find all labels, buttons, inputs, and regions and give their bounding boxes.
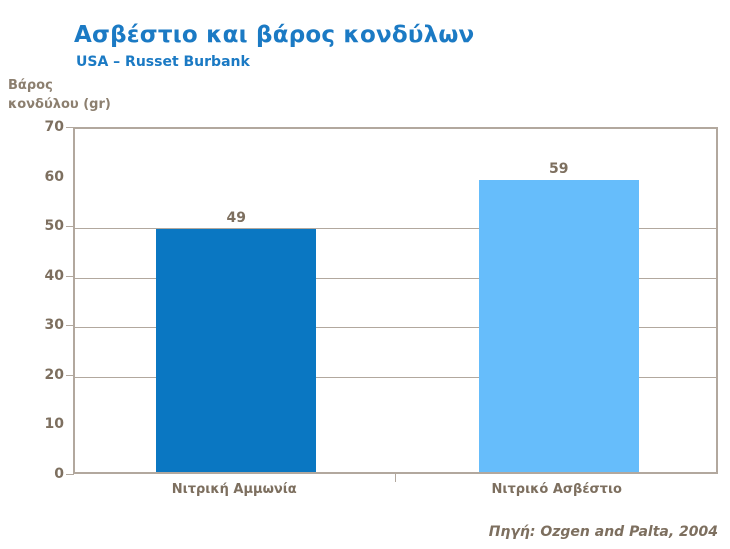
x-axis-category-label: Νιτρικό Ασβέστιο	[396, 482, 719, 497]
y-axis-tick-label: 0	[24, 466, 64, 482]
source-note: Πηγή: Ozgen and Palta, 2004	[489, 524, 718, 540]
y-axis-tick-label: 50	[24, 218, 64, 234]
y-axis-tick-label: 60	[24, 169, 64, 185]
y-axis-tick-labels: 010203040506070	[14, 127, 64, 474]
bar-value-label: 59	[479, 161, 639, 177]
bar[interactable]	[479, 180, 639, 472]
x-axis-mid-tick	[395, 474, 396, 482]
y-axis-title-line-1: Βάρος	[8, 76, 138, 95]
chart-subtitle: USA – Russet Burbank	[76, 54, 250, 70]
y-axis-tick-label: 20	[24, 367, 64, 383]
bar-value-label: 49	[156, 210, 316, 226]
x-axis-category-label: Νιτρική Αμμωνία	[73, 482, 396, 497]
y-axis-title: Βάρος κονδύλου (gr)	[8, 76, 138, 114]
plot-area: 4959	[73, 127, 718, 474]
bar[interactable]	[156, 229, 316, 472]
chart-title: Ασβέστιο και βάρος κονδύλων	[74, 22, 474, 48]
y-axis-tick-mark	[66, 474, 74, 475]
x-axis-category-labels: Νιτρική ΑμμωνίαΝιτρικό Ασβέστιο	[73, 482, 718, 506]
y-axis-title-line-2: κονδύλου (gr)	[8, 95, 138, 114]
y-axis-tick-label: 10	[24, 416, 64, 432]
y-axis-tick-label: 70	[24, 119, 64, 135]
y-axis-tick-label: 30	[24, 317, 64, 333]
y-axis-tick-label: 40	[24, 268, 64, 284]
